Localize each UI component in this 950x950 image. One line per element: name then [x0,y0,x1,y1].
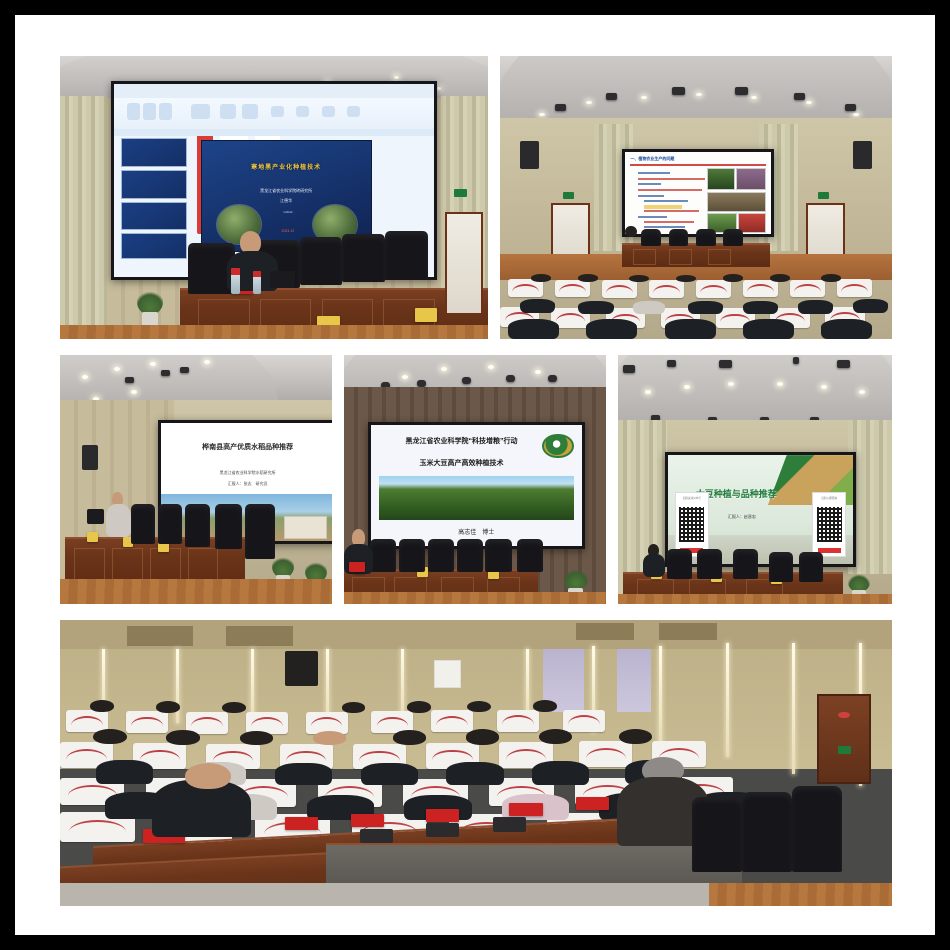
bullet-slide: 一、植物农业生产的问题 [625,152,772,234]
exit-sign-icon [454,189,467,197]
name-placard [426,809,459,822]
presentation-screen: 大豆种植与品种推荐 汇报人：赵晋忠 扫码关注公众号 扫码入群咨询 [665,452,857,567]
qr-code-icon [679,507,704,542]
chair [792,786,842,872]
chair [215,504,242,549]
hanging-coat [285,651,318,685]
chair [641,229,661,246]
attendee-body [643,554,665,576]
slide-field-photo [379,476,574,520]
exit-sign-icon [563,192,575,199]
qr-footer-bar [818,548,841,553]
slide-org: 黑龙江省农业科学院水稻研究所 [178,470,317,476]
photo-collage: 寒地黑产业化种植技术 黑龙江省农业科学院砖研究所 江德华 \u00a0 2024… [43,41,907,921]
photo-1-speaker-at-podium[interactable]: 寒地黑产业化种植技术 黑龙江省农业科学院砖研究所 江德华 \u00a0 2024… [60,56,488,339]
presenter-head [625,226,637,237]
attendee-body [106,504,130,536]
slide-line-2: 玉米大豆高产高效种植技术 [381,458,542,468]
side-door[interactable] [445,212,483,315]
slide-presenter: 汇报人：赵晋忠 [705,514,779,520]
chair [300,237,343,285]
chair [342,234,385,282]
slide-title: 桦南县高产优质水稻品种推荐 [171,442,324,452]
name-placard [509,803,542,816]
water-bottle [253,271,262,294]
chair [517,539,543,571]
chair [692,797,742,871]
chair [370,539,396,571]
slide-thumbnail[interactable] [121,233,187,259]
chair [399,539,425,571]
name-placard [285,817,318,830]
potted-plant [137,291,163,328]
front-attendee-head [185,763,231,789]
chair [667,549,692,579]
chair [185,504,209,546]
front-attendee [152,780,252,837]
collage-mat: 寒地黑产业化种植技术 黑龙江省农业科学院砖研究所 江德华 \u00a0 2024… [15,15,935,935]
chair [485,539,511,571]
slide-presenter: 高志佳 博士 [392,527,561,536]
institute-logo-icon [542,434,573,459]
slide-image [738,213,766,233]
slide-building-photo [284,516,328,539]
laptop [87,509,103,524]
slide-thumbnail[interactable] [121,202,187,231]
microphone [360,829,393,843]
slide-affiliation: \u00a0 [266,210,310,214]
wall-speaker [82,445,98,470]
chair [723,229,743,246]
slide-image [707,192,766,212]
head-table [622,243,771,268]
photo-3-rice-variety-lecture[interactable]: 桦南县高产优质水稻品种推荐 黑龙江省农业科学院水稻研究所 汇报人：张志 研究员 [60,355,332,604]
slide-heading: 一、植物农业生产的问题 [630,156,765,166]
slide-subtitle-1: 黑龙江省农业科学院砖研究所 [218,188,353,194]
wall-notice [434,660,461,688]
chair [158,504,182,544]
slide-title: 寒地黑产业化种植技术 [215,162,357,171]
chair [696,229,716,246]
floor [60,883,709,906]
stage-curtain-left [60,96,107,339]
exit-sign-icon [838,746,851,755]
corn-title-slide: 黑龙江省农业科学院“科技增粮”行动 玉米大豆高产高效种植技术 高志佳 博士 [371,425,582,546]
laptop [270,271,296,288]
name-placard [351,814,384,827]
water-bottle [231,268,240,293]
microphone [426,823,459,837]
slide-image [736,168,766,190]
chair [697,549,722,579]
chair [669,229,689,246]
qr-caption: 扫码入群咨询 [815,496,843,500]
qr-code-icon [817,507,842,542]
name-placard [576,797,609,810]
slide-thumbnail-panel[interactable] [121,138,185,265]
qr-card-right: 扫码入群咨询 [812,492,846,557]
photo-4-corn-soybean-technology[interactable]: 黑龙江省农业科学院“科技增粮”行动 玉米大豆高产高效种植技术 高志佳 博士 [344,355,606,604]
chair [799,552,824,582]
chair [131,504,155,544]
qr-caption: 扫码关注公众号 [678,496,706,500]
side-door[interactable] [817,694,871,784]
photo-5-soybean-variety[interactable]: 大豆种植与品种推荐 汇报人：赵晋忠 扫码关注公众号 扫码入群咨询 [618,355,892,604]
slide-presenter: 汇报人：张志 研究员 [178,481,317,487]
slide-image [707,168,735,190]
presentation-screen: 黑龙江省农业科学院“科技增粮”行动 玉米大豆高产高效种植技术 高志佳 博士 [368,422,585,549]
audience-row [500,274,892,299]
exit-sign-icon [818,192,830,199]
slide-date: 2024.12 [266,229,310,233]
microphone [493,817,526,831]
table-marker [415,308,436,322]
chair [769,552,794,582]
soybean-title-slide: 大豆种植与品种推荐 汇报人：赵晋忠 扫码关注公众号 扫码入群咨询 [668,455,854,564]
slide-thumbnail[interactable] [121,170,187,199]
slide-subtitle-2: 江德华 [218,198,353,204]
photo-2-auditorium-wide[interactable]: 一、植物农业生产的问题 [500,56,892,339]
slide-line-1: 黑龙江省农业科学院“科技增粮”行动 [381,436,542,446]
presentation-screen: 一、植物农业生产的问题 [622,149,775,237]
name-placard [349,562,365,572]
chair [385,231,428,279]
audience-row-front [500,319,892,339]
chair [742,792,792,872]
chair [428,539,454,571]
alarm-light-icon [838,712,850,719]
chair [733,549,758,579]
table-marker [87,532,98,542]
photo-6-audience-and-lecturer[interactable] [60,620,892,906]
chair [457,539,483,571]
chair [245,504,275,559]
wall-speaker [520,141,540,169]
qr-card-left: 扫码关注公众号 [675,492,709,557]
slide-thumbnail[interactable] [121,138,187,167]
wall-speaker [853,141,873,169]
